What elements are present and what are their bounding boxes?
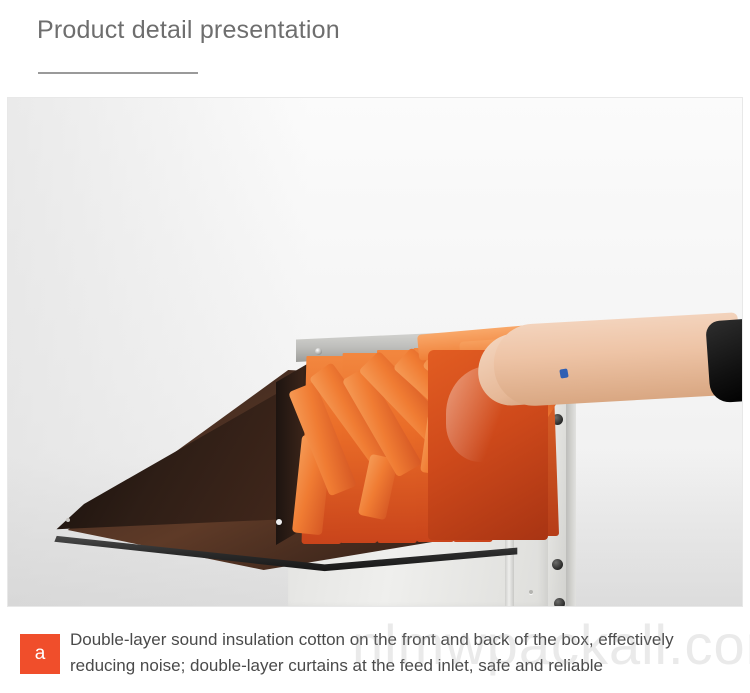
caption-block: a Double-layer sound insulation cotton o… [0, 607, 750, 693]
forearm [492, 312, 742, 408]
page-title: Product detail presentation [37, 16, 340, 45]
wristband [559, 368, 568, 378]
status-badge: a [20, 634, 60, 674]
black-sleeve [705, 318, 742, 403]
caption-text: Double-layer sound insulation cotton on … [70, 627, 742, 679]
product-photo-frame: Part / Feeding device [7, 97, 743, 607]
product-photo: Part / Feeding device [8, 98, 742, 606]
page-header: Product detail presentation [0, 0, 750, 97]
title-underline-rule [38, 72, 198, 74]
